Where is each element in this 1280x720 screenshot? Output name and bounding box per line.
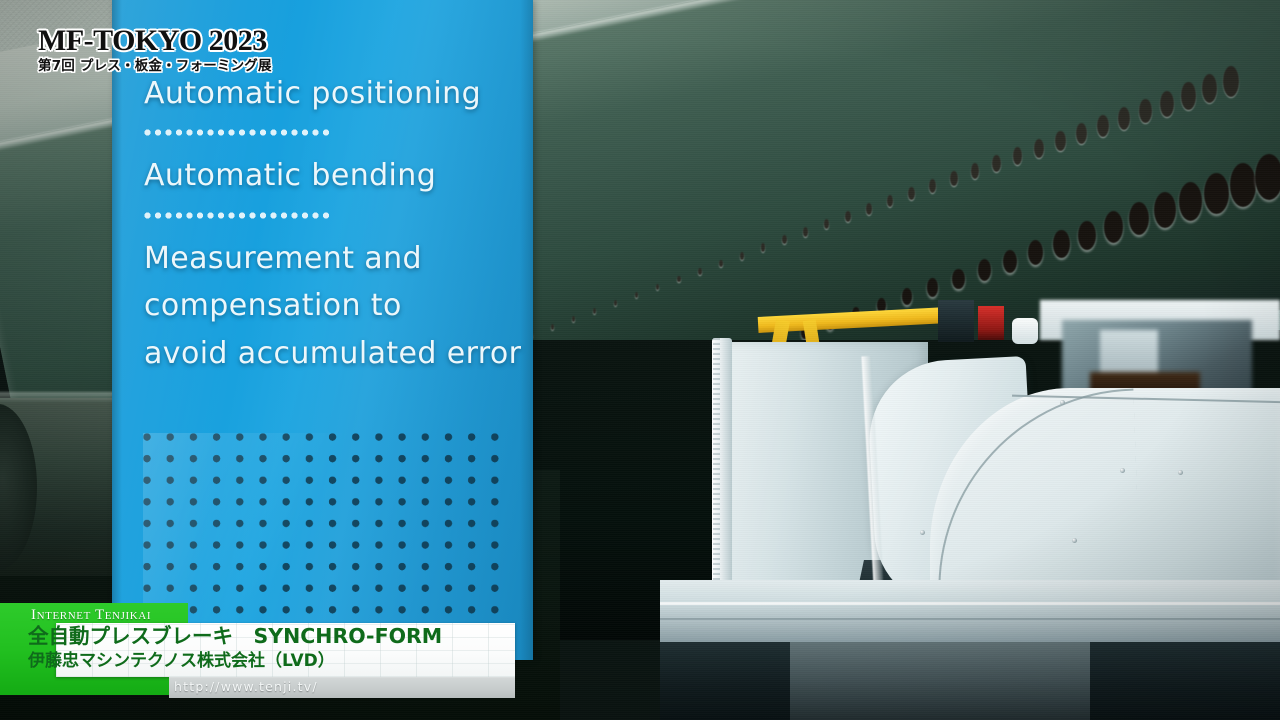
- guard-screw: [1120, 468, 1125, 473]
- tooling-rail-groove: [660, 602, 1280, 605]
- beam-slot: [740, 252, 744, 260]
- beam-slot: [1139, 99, 1152, 124]
- beam-slot: [824, 219, 829, 229]
- sheet-metal-edge-texture: [713, 338, 720, 616]
- beam-hole: [1104, 211, 1123, 243]
- beam-slot: [698, 268, 702, 275]
- beam-slot: [803, 227, 808, 237]
- video-frame: Automatic positioning Automatic bending …: [0, 0, 1280, 720]
- beam-slot: [593, 308, 596, 314]
- beam-slot: [635, 292, 638, 298]
- banner-feature-list: Automatic positioning Automatic bending …: [144, 70, 514, 377]
- banner-line-measurement: Measurement and: [144, 235, 514, 282]
- beam-slot: [1202, 74, 1217, 103]
- guard-screw: [920, 530, 925, 535]
- beam-hole: [1255, 154, 1280, 200]
- event-logo-subtitle: 第7回 プレス・板金・フォーミング展: [38, 59, 272, 73]
- beam-slot: [866, 203, 872, 215]
- beam-slot: [1223, 66, 1239, 96]
- event-logo: MF-TOKYO 2023 第7回 プレス・板金・フォーミング展: [38, 26, 272, 73]
- event-logo-title: MF-TOKYO 2023: [38, 26, 272, 56]
- beam-hole: [902, 288, 912, 305]
- tooling-rail-groove-2: [660, 618, 1280, 620]
- beam-slot: [1160, 91, 1174, 117]
- caption-url-text: http://www.tenji.tv/: [174, 679, 318, 694]
- dotted-separator-icon: [144, 212, 330, 219]
- beam-hole: [952, 269, 964, 289]
- dotted-separator-icon: [144, 129, 330, 136]
- tooling-rail: [660, 580, 1280, 642]
- beam-slot: [677, 276, 681, 283]
- beam-slot: [782, 235, 787, 244]
- caption-company-name: 伊藤忠マシンテクノス株式会社（LVD）: [28, 653, 335, 670]
- beam-slot: [719, 260, 723, 268]
- beam-hole: [1179, 182, 1202, 220]
- beam-slot: [1181, 82, 1196, 110]
- banner-line-accumulated-error: avoid accumulated error: [144, 330, 514, 377]
- beam-slot: [992, 155, 1001, 172]
- beam-slot: [1013, 147, 1022, 165]
- banner-line-automatic-bending: Automatic bending: [144, 152, 514, 199]
- beam-slot: [761, 243, 765, 251]
- beam-hole: [1129, 202, 1149, 236]
- beam-hole: [1053, 230, 1070, 257]
- beam-slot: [551, 324, 554, 330]
- beam-hole: [978, 259, 991, 281]
- beam-slot: [1076, 123, 1087, 144]
- caption-tab-label: Internet Tenjikai: [31, 607, 151, 624]
- beam-slot: [1097, 115, 1109, 137]
- white-knob: [1012, 318, 1038, 344]
- beam-hole: [1230, 163, 1256, 207]
- under-bench-backlight: [790, 642, 1090, 720]
- banner-dot-grid-pattern: [143, 433, 503, 633]
- beam-slot: [614, 300, 617, 306]
- beam-slot: [572, 316, 575, 322]
- beam-slot: [971, 163, 979, 179]
- beam-slot: [887, 195, 893, 207]
- banner-right-fold: [520, 0, 533, 660]
- beam-slot: [1118, 107, 1130, 131]
- beam-hole: [1204, 173, 1229, 214]
- guard-screw: [1178, 470, 1183, 475]
- beam-slot: [656, 284, 659, 291]
- beam-hole: [927, 278, 938, 297]
- beam-hole: [1078, 221, 1096, 250]
- beam-slot: [929, 179, 936, 193]
- banner-line-compensation: compensation to: [144, 282, 514, 329]
- beam-hole: [1028, 240, 1043, 265]
- beam-hole: [1154, 192, 1176, 228]
- banner-line-automatic-positioning: Automatic positioning: [144, 70, 514, 117]
- guard-screw: [1072, 538, 1077, 543]
- beam-slot: [950, 171, 958, 186]
- beam-slot: [845, 211, 851, 222]
- beam-slot: [1055, 131, 1066, 151]
- banner-left-fold: [112, 0, 122, 660]
- red-component-block: [978, 306, 1004, 340]
- guard-screw: [1060, 400, 1065, 405]
- beam-slot: [908, 187, 915, 200]
- caption-product-title: 全自動プレスブレーキ SYNCHRO-FORM: [28, 626, 442, 647]
- beam-slot: [1034, 139, 1044, 158]
- dark-component-block: [938, 300, 974, 342]
- beam-hole: [1003, 250, 1017, 274]
